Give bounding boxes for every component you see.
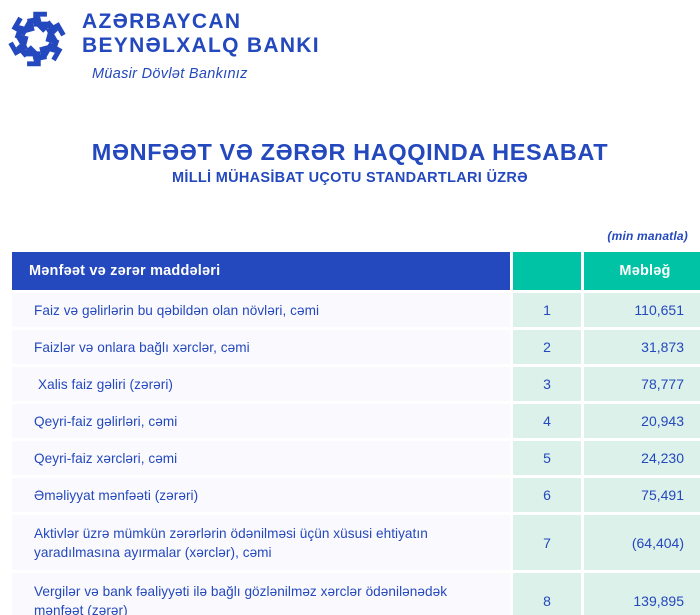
brand-text: AZƏRBAYCAN BEYNƏLXALQ BANKI Müasir Dövlə… [82,6,320,83]
row-amount: 75,491 [584,478,700,512]
column-header-amount: Məbləğ [584,252,700,290]
row-number: 8 [513,573,581,615]
row-amount: 31,873 [584,330,700,364]
row-label: Faizlər və onlara bağlı xərclər, cəmi [12,330,510,364]
table-row: Vergilər və bank fəaliyyəti ilə bağlı gö… [12,573,700,615]
row-amount: 78,777 [584,367,700,401]
row-label: Qeyri-faiz gəlirləri, cəmi [12,404,510,438]
row-number: 3 [513,367,581,401]
row-number: 2 [513,330,581,364]
column-header-number [513,252,581,290]
report-title-block: MƏNFƏƏT VƏ ZƏRƏR HAQQINDA HESABAT MİLLİ … [0,138,700,188]
row-number: 6 [513,478,581,512]
row-label: Aktivlər üzrə mümkün zərərlərin ödənilmə… [12,515,510,570]
table-row: Faiz və gəlirlərin bu qəbildən olan növl… [12,293,700,327]
report-page: AZƏRBAYCAN BEYNƏLXALQ BANKI Müasir Dövlə… [0,0,700,615]
table-body: Faiz və gəlirlərin bu qəbildən olan növl… [12,293,700,615]
row-number: 5 [513,441,581,475]
pinwheel-star-logo-icon [6,8,68,70]
row-label: Qeyri-faiz xərcləri, cəmi [12,441,510,475]
row-number: 4 [513,404,581,438]
page-subtitle: MİLLİ MÜHASİBAT UÇOTU STANDARTLARI ÜZRƏ [0,169,700,188]
row-amount: 110,651 [584,293,700,327]
row-number: 1 [513,293,581,327]
row-label: Xalis faiz gəliri (zərəri) [12,367,510,401]
unit-note: (min manatla) [607,229,688,243]
row-amount: 24,230 [584,441,700,475]
brand-tagline: Müasir Dövlət Bankınız [92,65,320,83]
brand-name-line1: AZƏRBAYCAN [82,10,320,34]
table-header-row: Mənfəət və zərər maddələri Məbləğ [12,252,700,290]
row-amount: (64,404) [584,515,700,570]
table-row: Əməliyyat mənfəəti (zərəri) 6 75,491 [12,478,700,512]
row-label: Əməliyyat mənfəəti (zərəri) [12,478,510,512]
row-label: Faiz və gəlirlərin bu qəbildən olan növl… [12,293,510,327]
table-row: Qeyri-faiz xərcləri, cəmi 5 24,230 [12,441,700,475]
table-row: Faizlər və onlara bağlı xərclər, cəmi 2 … [12,330,700,364]
row-amount: 139,895 [584,573,700,615]
page-title: MƏNFƏƏT VƏ ZƏRƏR HAQQINDA HESABAT [0,138,700,166]
profit-loss-table: Mənfəət və zərər maddələri Məbləğ Faiz v… [12,252,700,615]
table-row: Qeyri-faiz gəlirləri, cəmi 4 20,943 [12,404,700,438]
table-row: Xalis faiz gəliri (zərəri) 3 78,777 [12,367,700,401]
column-header-label: Mənfəət və zərər maddələri [12,252,510,290]
brand-name-line2: BEYNƏLXALQ BANKI [82,34,320,58]
row-amount: 20,943 [584,404,700,438]
table-row: Aktivlər üzrə mümkün zərərlərin ödənilmə… [12,515,700,570]
row-number: 7 [513,515,581,570]
row-label: Vergilər və bank fəaliyyəti ilə bağlı gö… [12,573,510,615]
brand-header: AZƏRBAYCAN BEYNƏLXALQ BANKI Müasir Dövlə… [6,6,320,83]
